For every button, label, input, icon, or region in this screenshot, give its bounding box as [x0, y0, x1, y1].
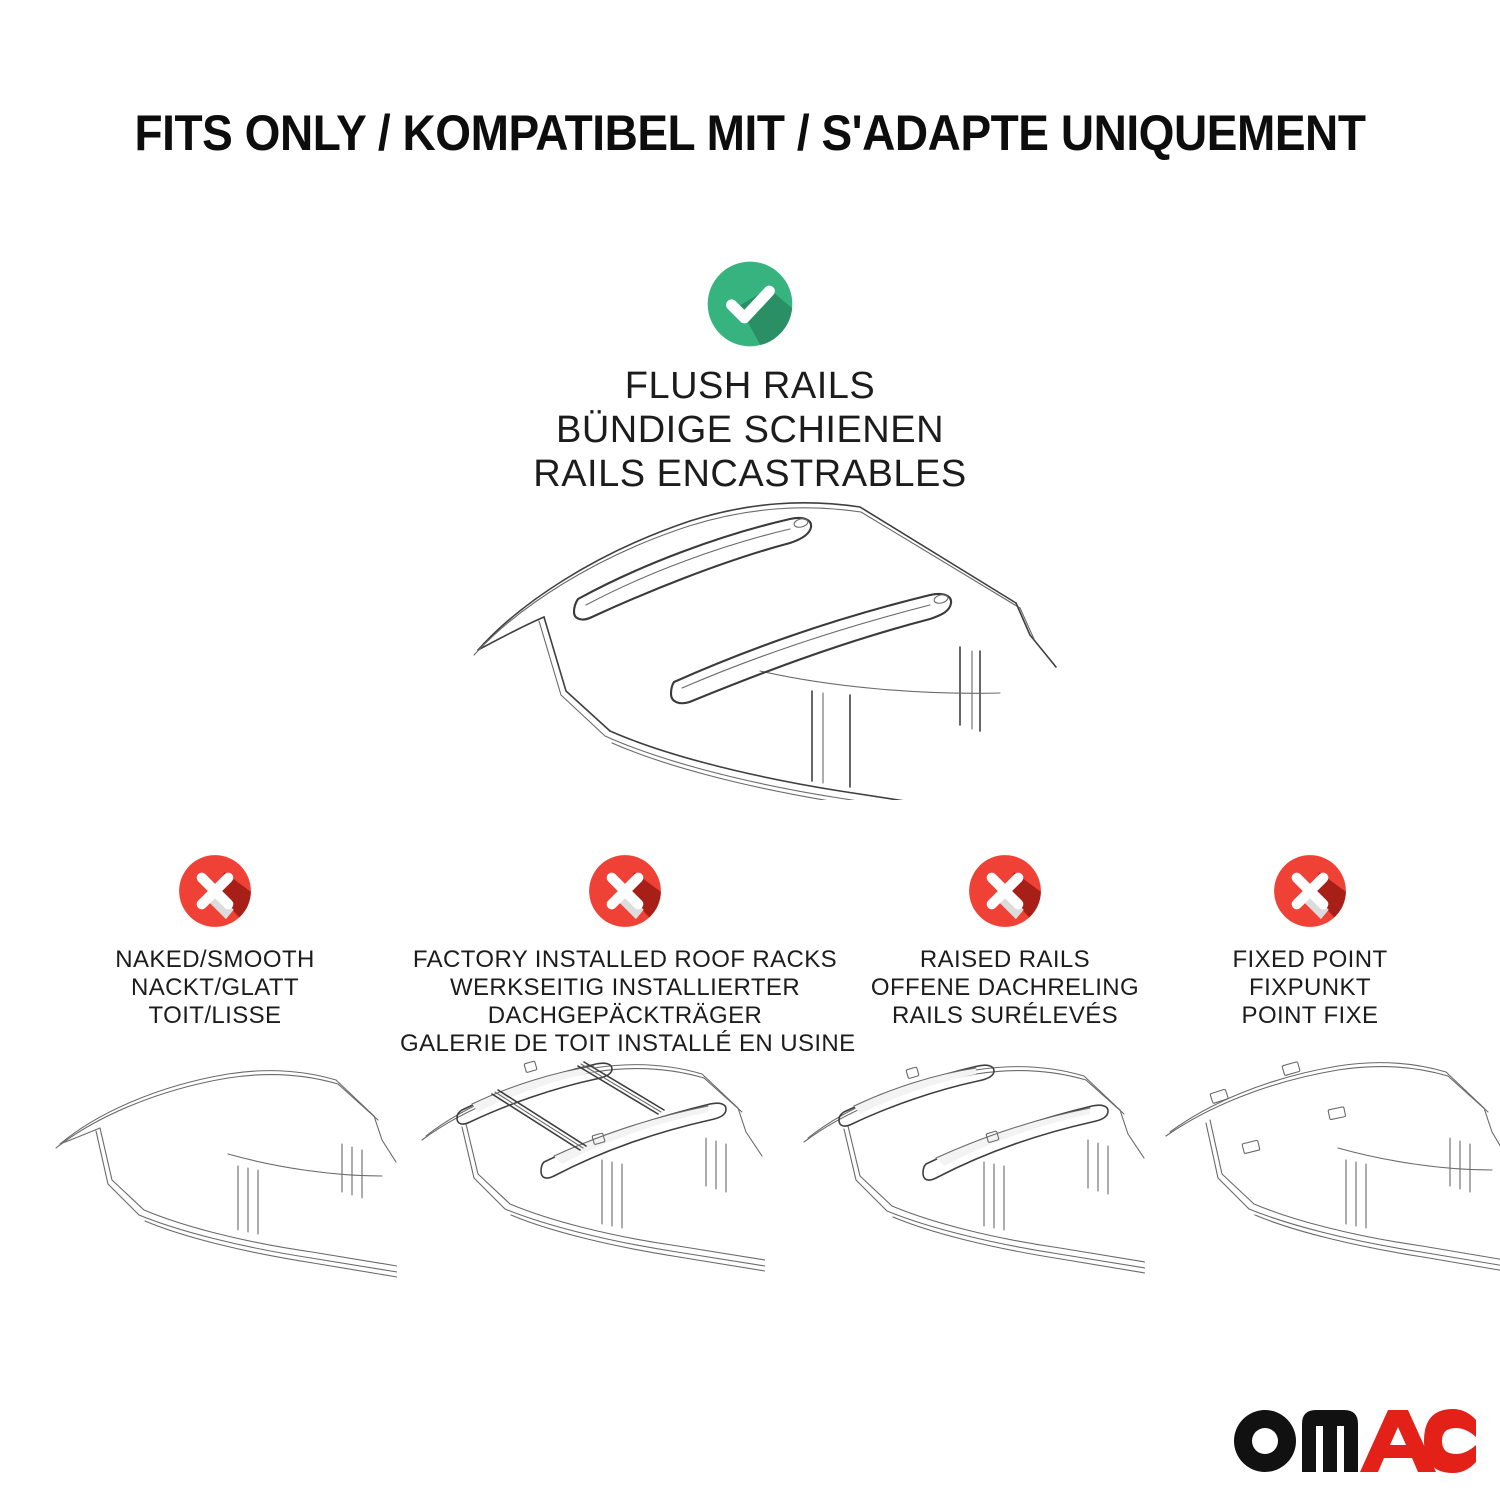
car-roof-with-raised-rails-illustration [800, 1058, 1145, 1293]
car-roof-with-factory-crossbars-illustration [420, 1058, 765, 1293]
not-fits-label: FACTORY INSTALLED ROOF RACKS WERKSEITIG … [400, 946, 850, 1058]
label-line-fr: POINT FIXE [1165, 1002, 1455, 1030]
x-circle-icon [1271, 852, 1349, 930]
not-fits-label: FIXED POINT FIXPUNKT POINT FIXE [1165, 946, 1455, 1030]
label-line-en: FIXED POINT [1165, 946, 1455, 974]
omac-logo [1232, 1408, 1476, 1474]
label-line-de: NACKT/GLATT [55, 974, 375, 1002]
car-roof-bare-illustration [52, 1058, 397, 1293]
label-line-de: OFFENE DACHRELING [845, 974, 1165, 1002]
x-circle-icon [586, 852, 664, 930]
x-circle-icon [176, 852, 254, 930]
page-title: FITS ONLY / KOMPATIBEL MIT / S'ADAPTE UN… [60, 104, 1440, 162]
car-roof-with-fixed-points-illustration [1160, 1058, 1500, 1293]
label-line-de-2: DACHGEPÄCKTRÄGER [400, 1002, 850, 1030]
not-fits-label: NAKED/SMOOTH NACKT/GLATT TOIT/LISSE [55, 946, 375, 1030]
label-line-en: FACTORY INSTALLED ROOF RACKS [400, 946, 850, 974]
label-line-fr: TOIT/LISSE [55, 1002, 375, 1030]
not-fits-item-raised-rails: RAISED RAILS OFFENE DACHRELING RAILS SUR… [845, 852, 1165, 1030]
fits-label: FLUSH RAILS BÜNDIGE SCHIENEN RAILS ENCAS… [0, 364, 1500, 496]
fits-section: FLUSH RAILS BÜNDIGE SCHIENEN RAILS ENCAS… [0, 258, 1500, 496]
label-line-de-1: WERKSEITIG INSTALLIERTER [400, 974, 850, 1002]
check-circle-icon [704, 258, 796, 350]
label-line-fr: GALERIE DE TOIT INSTALLÉ EN USINE [400, 1030, 850, 1058]
fits-label-line-fr: RAILS ENCASTRABLES [0, 452, 1500, 496]
label-line-fr: RAILS SURÉLEVÉS [845, 1002, 1165, 1030]
car-roof-with-flush-rails-illustration [460, 495, 1060, 800]
fits-label-line-de: BÜNDIGE SCHIENEN [0, 408, 1500, 452]
not-fits-item-fixed-point: FIXED POINT FIXPUNKT POINT FIXE [1165, 852, 1455, 1030]
fits-label-line-en: FLUSH RAILS [0, 364, 1500, 408]
not-fits-item-factory-roof-racks: FACTORY INSTALLED ROOF RACKS WERKSEITIG … [400, 852, 850, 1058]
not-fits-label: RAISED RAILS OFFENE DACHRELING RAILS SUR… [845, 946, 1165, 1030]
label-line-de: FIXPUNKT [1165, 974, 1455, 1002]
label-line-en: NAKED/SMOOTH [55, 946, 375, 974]
label-line-en: RAISED RAILS [845, 946, 1165, 974]
x-circle-icon [966, 852, 1044, 930]
not-fits-item-naked-smooth: NAKED/SMOOTH NACKT/GLATT TOIT/LISSE [55, 852, 375, 1030]
